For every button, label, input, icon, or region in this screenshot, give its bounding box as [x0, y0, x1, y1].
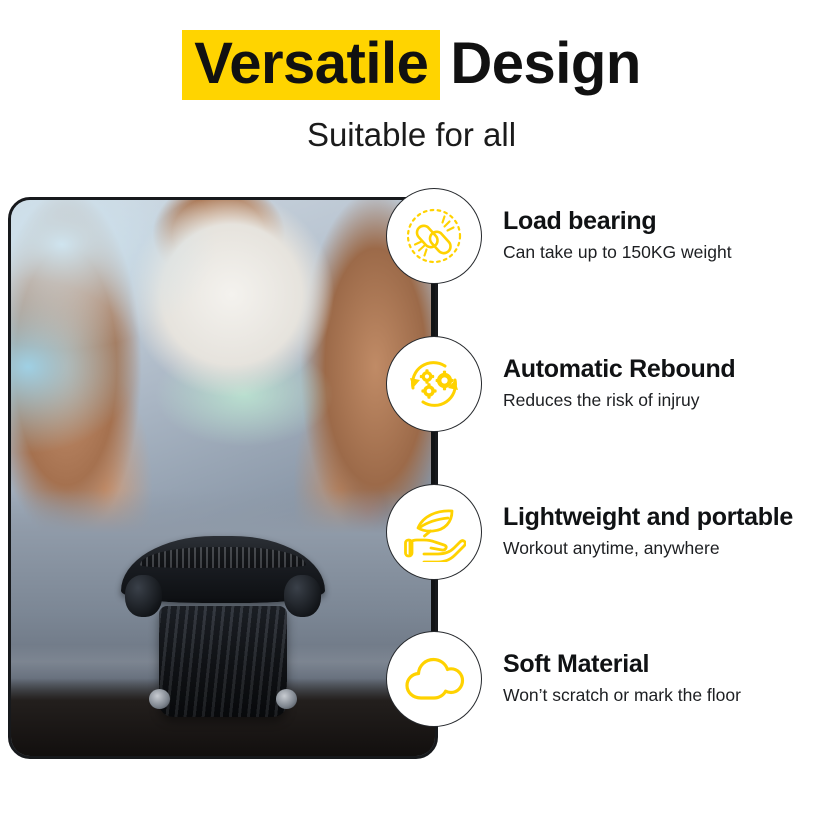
chain-link-icon: [404, 206, 464, 266]
feature-item-soft-material: Soft Material Won’t scratch or mark the …: [386, 631, 823, 727]
gears-rotation-icon: [403, 353, 465, 415]
feature-description: Reduces the risk of injruy: [503, 390, 735, 411]
feature-title: Automatic Rebound: [503, 355, 735, 384]
feature-description: Workout anytime, anywhere: [503, 538, 793, 559]
cloud-icon: [403, 653, 465, 705]
feature-description: Can take up to 150KG weight: [503, 242, 732, 263]
feature-text: Automatic Rebound Reduces the risk of in…: [482, 355, 735, 413]
feature-item-automatic-rebound: Automatic Rebound Reduces the risk of in…: [386, 336, 823, 432]
feature-item-load-bearing: Load bearing Can take up to 150KG weight: [386, 188, 823, 284]
hand-feather-icon: [402, 502, 466, 562]
feature-item-lightweight-portable: Lightweight and portable Workout anytime…: [386, 484, 823, 580]
feature-text: Load bearing Can take up to 150KG weight: [482, 207, 732, 265]
feature-text: Soft Material Won’t scratch or mark the …: [482, 650, 741, 708]
feature-title: Soft Material: [503, 650, 741, 679]
feature-icon-badge: [386, 188, 482, 284]
feature-list: Load bearing Can take up to 150KG weight: [0, 0, 823, 823]
feature-description: Won’t scratch or mark the floor: [503, 685, 741, 706]
feature-icon-badge: [386, 336, 482, 432]
feature-icon-badge: [386, 484, 482, 580]
feature-connector-line: [431, 230, 435, 688]
versatile-design-infographic: VersatileDesign Suitable for all: [0, 0, 823, 823]
feature-title: Load bearing: [503, 207, 732, 236]
feature-title: Lightweight and portable: [503, 503, 793, 532]
feature-icon-badge: [386, 631, 482, 727]
feature-text: Lightweight and portable Workout anytime…: [482, 503, 793, 561]
